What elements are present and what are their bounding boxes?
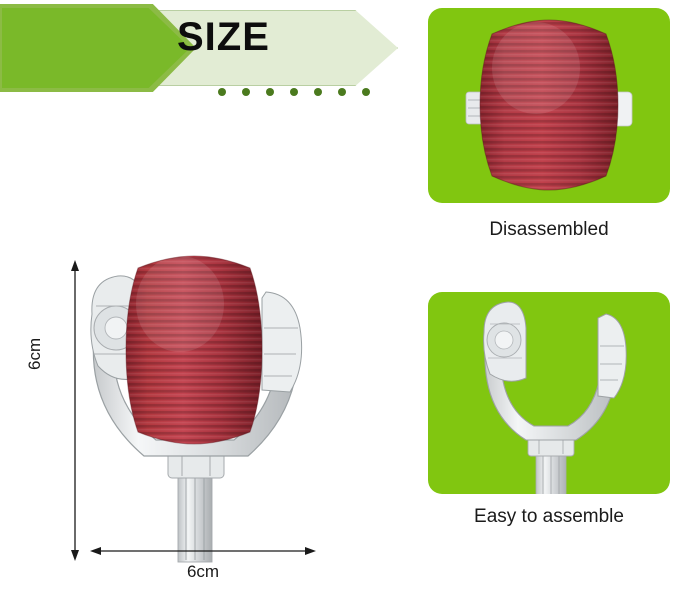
arrow-right-icon bbox=[305, 547, 316, 555]
banner-dot bbox=[242, 88, 250, 96]
banner-dot-row bbox=[218, 88, 370, 96]
red-silicone-ball bbox=[468, 16, 638, 196]
caption-disassembled: Disassembled bbox=[428, 219, 670, 241]
cradle-left-cup bbox=[484, 302, 526, 381]
width-dimension-label: 6cm bbox=[88, 562, 318, 582]
banner-dot bbox=[338, 88, 346, 96]
assemble-product-image bbox=[428, 292, 670, 494]
cradle-right-cup bbox=[598, 314, 626, 398]
width-dimension-line bbox=[88, 540, 318, 562]
arrow-down-icon bbox=[71, 550, 79, 561]
banner-dot bbox=[290, 88, 298, 96]
caption-easy-to-assemble: Easy to assemble bbox=[428, 506, 670, 528]
arrow-left-icon bbox=[90, 547, 101, 555]
disassembled-product-image bbox=[428, 8, 670, 203]
arrow-up-icon bbox=[71, 260, 79, 271]
height-dimension-line bbox=[60, 258, 90, 563]
banner-green-chevron bbox=[2, 8, 190, 88]
page-title: SIZE bbox=[177, 17, 270, 57]
height-dimension-label: 6cm bbox=[25, 338, 45, 370]
clear-handle-stem bbox=[536, 450, 566, 494]
main-product-image bbox=[60, 250, 330, 570]
banner-dot bbox=[266, 88, 274, 96]
cradle-right-cup bbox=[262, 292, 302, 392]
banner-dot bbox=[362, 88, 370, 96]
banner-dot bbox=[218, 88, 226, 96]
size-banner: SIZE bbox=[0, 4, 412, 96]
banner-dot bbox=[314, 88, 322, 96]
